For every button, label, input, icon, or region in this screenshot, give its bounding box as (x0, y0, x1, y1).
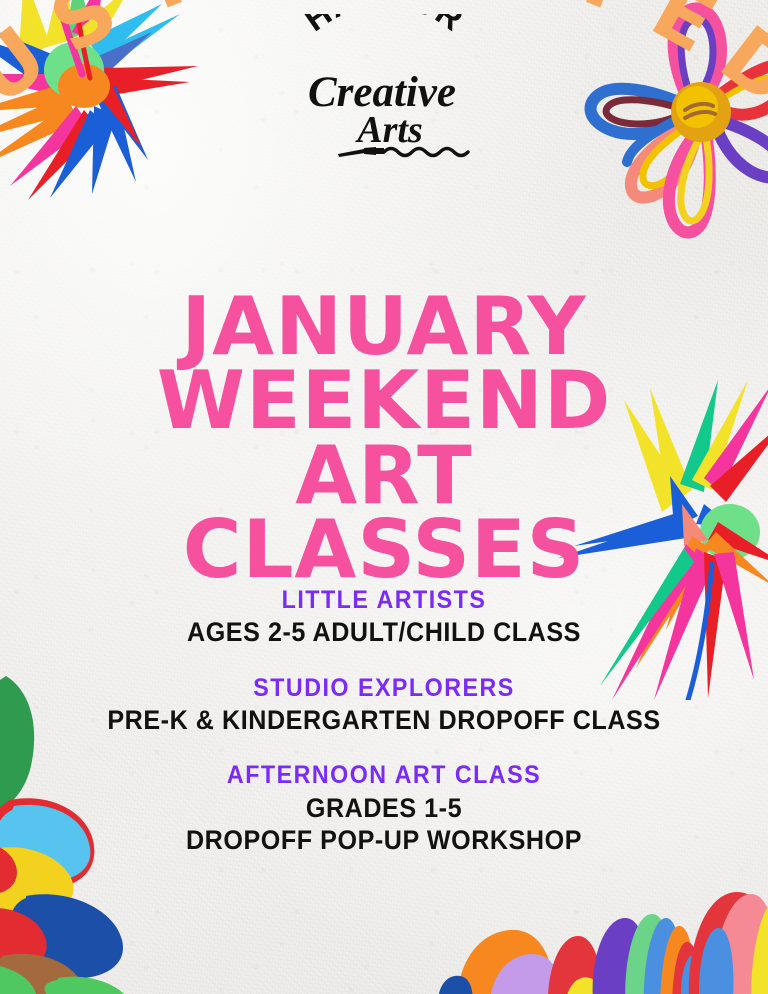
logo-arc-text: HARBOR (297, 14, 470, 38)
painted-petal-blobs-bottom-right-icon (438, 870, 768, 994)
class-detail-line: AGES 2-5 ADULT/CHILD CLASS (27, 616, 741, 648)
kicker-char: D (703, 8, 768, 124)
title-line-4: CLASSES (0, 513, 768, 587)
class-detail-line: GRADES 1-5 (27, 792, 741, 824)
kicker-char (227, 0, 275, 2)
title-line-1: JANUARY (0, 290, 768, 364)
wave-icon (384, 149, 468, 156)
kicker-char: T (123, 0, 208, 33)
class-block-little-artists: LITTLE ARTISTS AGES 2-5 ADULT/CHILD CLAS… (0, 585, 768, 649)
kicker-char: T (560, 0, 645, 33)
poster-canvas: HARBOR Creative Arts JUST POSTED! JANUAR… (0, 0, 768, 994)
class-title: STUDIO EXPLORERS (27, 673, 741, 704)
class-title: AFTERNOON ART CLASS (27, 760, 741, 791)
page-title: JANUARY WEEKEND ART CLASSES (0, 290, 768, 588)
kicker-char: E (637, 0, 731, 71)
class-block-afternoon-art-class: AFTERNOON ART CLASS GRADES 1-5 DROPOFF P… (0, 760, 768, 856)
class-listings: LITTLE ARTISTS AGES 2-5 ADULT/CHILD CLAS… (0, 585, 768, 880)
kicker-char: S (478, 0, 555, 5)
title-line-3: ART (0, 439, 768, 513)
title-line-2: WEEKEND (0, 364, 768, 438)
brand-logo: HARBOR Creative Arts (264, 14, 504, 164)
logo-script-arts: Arts (355, 109, 422, 151)
kicker-char: S (36, 0, 133, 72)
class-block-studio-explorers: STUDIO EXPLORERS PRE-K & KINDERGARTEN DR… (0, 673, 768, 737)
class-detail-line: PRE-K & KINDERGARTEN DROPOFF CLASS (27, 704, 741, 736)
class-detail-line: DROPOFF POP-UP WORKSHOP (27, 824, 741, 856)
class-title: LITTLE ARTISTS (27, 585, 741, 616)
